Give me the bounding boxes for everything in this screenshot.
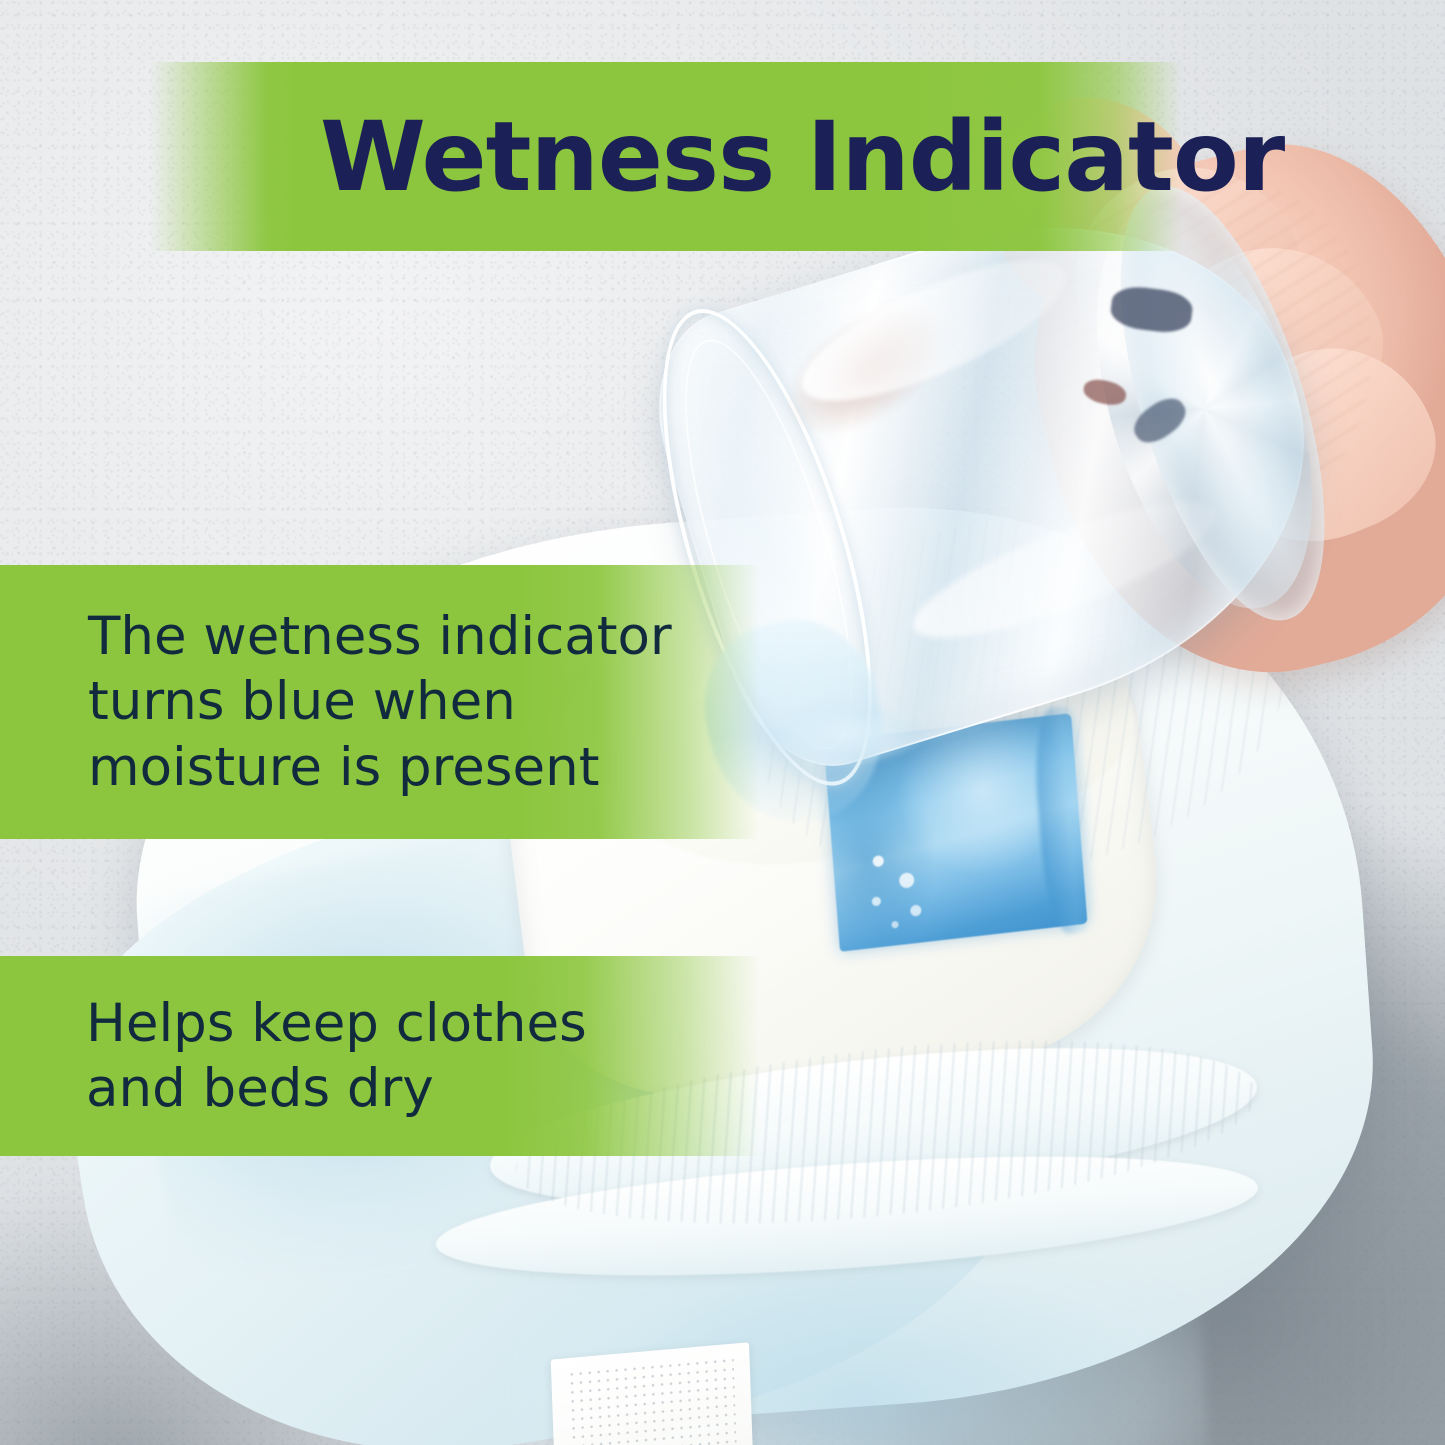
diaper-tape-tab (551, 1342, 757, 1445)
product-feature-poster: Wetness Indicator The wetness indicator … (0, 0, 1445, 1445)
title-banner: Wetness Indicator (0, 62, 1182, 251)
feature-text-wetness-indicator: The wetness indicator turns blue when mo… (88, 604, 672, 800)
page-title: Wetness Indicator (320, 109, 1284, 205)
indicator-bubbles (851, 830, 943, 936)
tape-tab-texture (567, 1356, 740, 1445)
feature-text-dryness: Helps keep clothes and beds dry (86, 991, 587, 1121)
feature-banner-dryness: Helps keep clothes and beds dry (0, 956, 760, 1156)
feature-banner-wetness-indicator: The wetness indicator turns blue when mo… (0, 565, 760, 839)
water-splash (766, 702, 925, 766)
